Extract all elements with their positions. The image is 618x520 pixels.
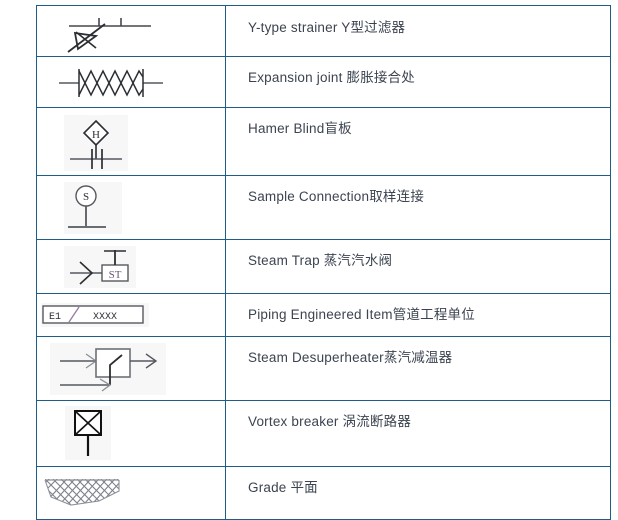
symbol-cell: H: [37, 108, 226, 176]
symbol-cell: S: [37, 176, 226, 240]
symbol-cell: [37, 6, 226, 57]
description-cell: Piping Engineered Item管道工程单位: [226, 294, 611, 337]
description-cell: Hamer Blind盲板: [226, 108, 611, 176]
piping-item-tag: E1: [49, 312, 61, 323]
table-row: H Hamer Blind盲板: [37, 108, 611, 176]
expansion-joint-symbol: [51, 61, 171, 105]
description-cell: Steam Desuperheater蒸汽减温器: [226, 337, 611, 401]
row-label: Piping Engineered Item管道工程单位: [226, 294, 610, 324]
grade-symbol: [41, 477, 129, 515]
table-row: S Sample Connection取样连接: [37, 176, 611, 240]
row-label: Expansion joint 膨胀接合处: [226, 57, 610, 87]
symbol-cell: [37, 467, 226, 520]
row-label: Grade 平面: [226, 467, 610, 497]
row-label: Steam Desuperheater蒸汽减温器: [226, 337, 610, 367]
steam-trap-letter: ST: [109, 269, 122, 281]
description-cell: Vortex breaker 涡流断路器: [226, 401, 611, 467]
steam-trap-symbol: ST: [64, 246, 136, 288]
vortex-breaker-symbol: [65, 406, 111, 460]
sample-connection-letter: S: [83, 191, 89, 203]
row-label: Sample Connection取样连接: [226, 176, 610, 206]
table-row: Expansion joint 膨胀接合处: [37, 57, 611, 108]
sample-connection-symbol: S: [64, 182, 122, 234]
row-label: Y-type strainer Y型过滤器: [226, 6, 610, 37]
y-type-strainer-symbol: [51, 10, 171, 56]
symbol-cell: E1 XXXX: [37, 294, 226, 337]
table-row: Y-type strainer Y型过滤器: [37, 6, 611, 57]
table-row: Grade 平面: [37, 467, 611, 520]
table-row: Vortex breaker 涡流断路器: [37, 401, 611, 467]
table-row: E1 XXXX Piping Engineered Item管道工程单位: [37, 294, 611, 337]
hammer-blind-symbol: H: [64, 115, 128, 171]
piping-engineered-item-symbol: E1 XXXX: [41, 303, 149, 327]
row-label: Hamer Blind盲板: [226, 108, 610, 138]
row-label: Vortex breaker 涡流断路器: [226, 401, 610, 431]
symbol-cell: [37, 57, 226, 108]
symbol-legend-table: Y-type strainer Y型过滤器: [36, 5, 611, 520]
description-cell: Expansion joint 膨胀接合处: [226, 57, 611, 108]
steam-desuperheater-symbol: [50, 343, 166, 395]
table-row: ST Steam Trap 蒸汽汽水阀: [37, 240, 611, 294]
row-label: Steam Trap 蒸汽汽水阀: [226, 240, 610, 270]
symbol-cell: [37, 401, 226, 467]
description-cell: Grade 平面: [226, 467, 611, 520]
description-cell: Steam Trap 蒸汽汽水阀: [226, 240, 611, 294]
hammer-blind-letter: H: [92, 129, 100, 141]
description-cell: Sample Connection取样连接: [226, 176, 611, 240]
symbol-cell: ST: [37, 240, 226, 294]
symbol-cell: [37, 337, 226, 401]
piping-item-number: XXXX: [93, 312, 117, 323]
table-row: Steam Desuperheater蒸汽减温器: [37, 337, 611, 401]
description-cell: Y-type strainer Y型过滤器: [226, 6, 611, 57]
